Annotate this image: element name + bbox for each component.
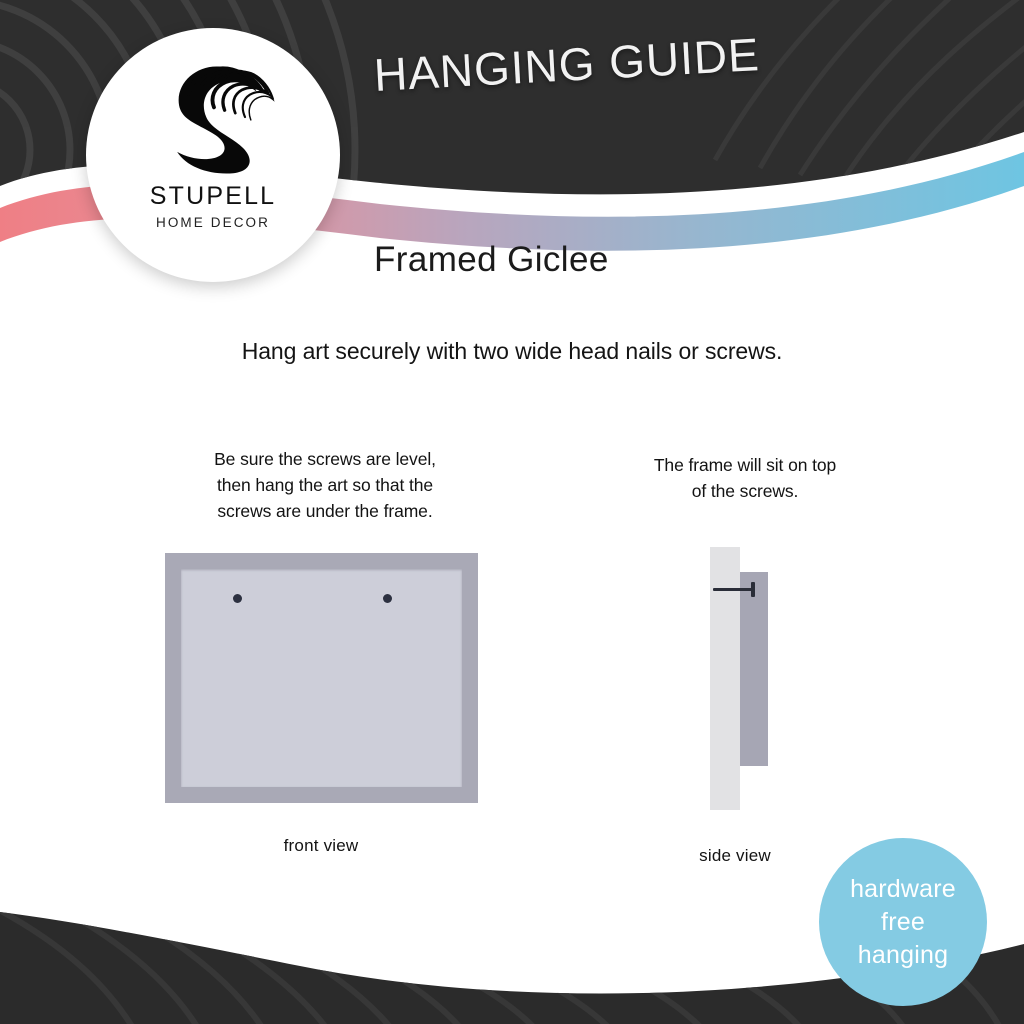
side-view-label: side view (699, 846, 771, 866)
front-view-frame-diagram (165, 553, 478, 803)
side-caption-line-1: The frame will sit on top (600, 452, 890, 478)
front-view-caption-block: Be sure the screws are level, then hang … (160, 446, 490, 524)
badge-line-2: free (881, 906, 925, 939)
brand-logo-badge: STUPELL HOME DECOR (86, 28, 340, 282)
side-view-wall (710, 547, 740, 810)
screw-dot-right-icon (383, 594, 392, 603)
brand-name: STUPELL (150, 182, 277, 211)
lead-instruction-text: Hang art securely with two wide head nai… (242, 338, 783, 365)
front-view-label: front view (284, 836, 359, 856)
brand-tagline: HOME DECOR (156, 215, 270, 230)
swoosh-s-logo-icon (150, 58, 276, 176)
nail-head-icon (751, 582, 755, 597)
side-caption-line-2: of the screws. (600, 478, 890, 504)
screw-dot-left-icon (233, 594, 242, 603)
nail-shaft-icon (713, 588, 755, 591)
hardware-free-hanging-badge: hardware free hanging (819, 838, 987, 1006)
side-view-caption-block: The frame will sit on top of the screws. (600, 452, 890, 504)
badge-line-1: hardware (850, 873, 956, 906)
badge-line-3: hanging (858, 939, 948, 972)
hanging-guide-page: STUPELL HOME DECOR HANGING GUIDE Framed … (0, 0, 1024, 1024)
front-view-frame-interior (181, 569, 462, 787)
product-type-title: Framed Giclee (374, 240, 609, 280)
page-title: HANGING GUIDE (373, 27, 762, 102)
front-caption-line-1: Be sure the screws are level, (160, 446, 490, 472)
front-caption-line-3: screws are under the frame. (160, 498, 490, 524)
side-view-frame (740, 572, 768, 766)
front-caption-line-2: then hang the art so that the (160, 472, 490, 498)
